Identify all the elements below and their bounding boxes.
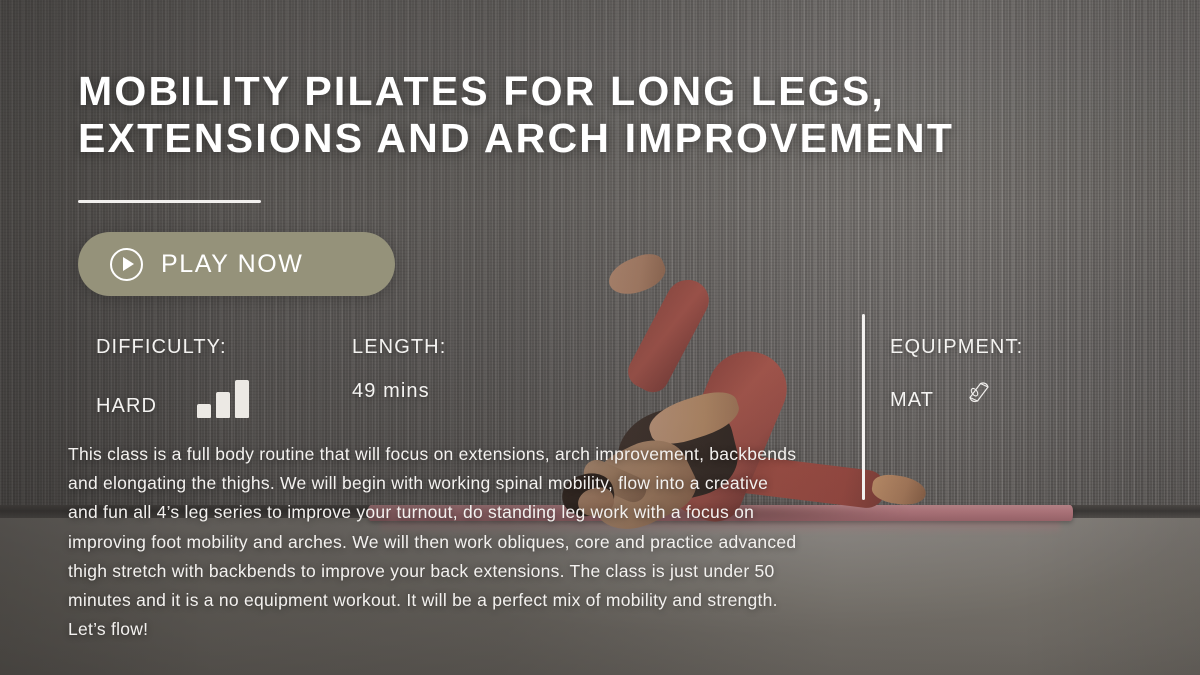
hero-content: MOBILITY PILATES FOR LONG LEGS, EXTENSIO… xyxy=(0,0,1200,675)
play-now-button[interactable]: PLAY NOW xyxy=(78,232,395,296)
length-value-row: 49 mins xyxy=(352,380,446,403)
page-title-line-2: EXTENSIONS AND ARCH IMPROVEMENT xyxy=(78,115,1078,162)
class-hero-screen: MOBILITY PILATES FOR LONG LEGS, EXTENSIO… xyxy=(0,0,1200,675)
equipment-divider xyxy=(862,314,865,500)
signal-bar-3 xyxy=(235,380,249,418)
equipment-value: MAT xyxy=(890,389,934,412)
page-title-line-1: MOBILITY PILATES FOR LONG LEGS, xyxy=(78,68,1078,115)
play-circle-icon xyxy=(110,248,143,281)
page-title: MOBILITY PILATES FOR LONG LEGS, EXTENSIO… xyxy=(78,68,1078,162)
equipment-value-row: MAT xyxy=(890,380,1023,412)
rolled-mat-icon xyxy=(964,380,994,411)
play-now-label: PLAY NOW xyxy=(161,250,303,279)
difficulty-value: HARD xyxy=(96,395,157,418)
meta-difficulty: DIFFICULTY: HARD xyxy=(96,336,249,418)
class-description: This class is a full body routine that w… xyxy=(68,440,798,644)
difficulty-label: DIFFICULTY: xyxy=(96,336,249,359)
title-underline-rule xyxy=(78,200,261,203)
play-triangle-icon xyxy=(123,257,134,271)
signal-bar-2 xyxy=(216,392,230,418)
signal-bar-1 xyxy=(197,404,211,418)
length-value: 49 mins xyxy=(352,380,430,403)
difficulty-value-row: HARD xyxy=(96,380,249,418)
meta-length: LENGTH: 49 mins xyxy=(352,336,446,403)
equipment-label: EQUIPMENT: xyxy=(890,336,1023,359)
meta-equipment: EQUIPMENT: MAT xyxy=(890,336,1023,412)
class-meta-row: DIFFICULTY: HARD LENGTH: 49 mins EQUI xyxy=(0,336,1200,416)
signal-bars-icon xyxy=(197,380,249,418)
length-label: LENGTH: xyxy=(352,336,446,359)
